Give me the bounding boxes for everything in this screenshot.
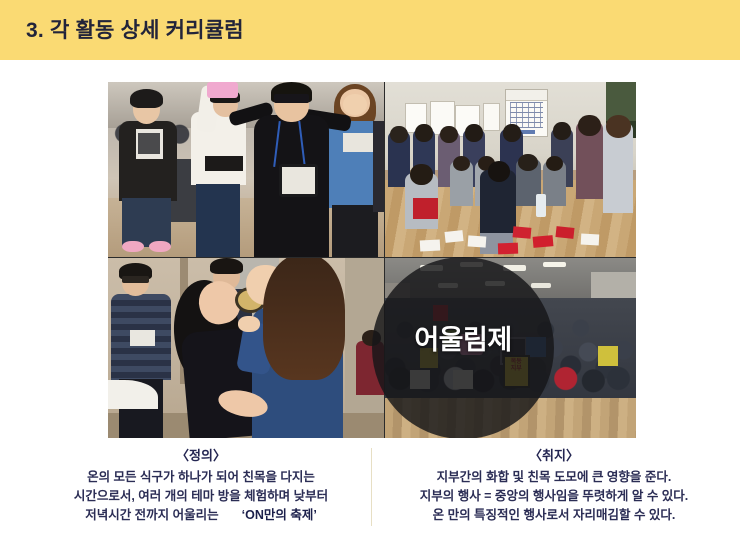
ceiling-light-7 bbox=[531, 283, 551, 288]
man-name-tag bbox=[130, 330, 155, 346]
student-back-1-head bbox=[390, 126, 408, 144]
edge-figure bbox=[373, 121, 384, 212]
floor-card-red-3 bbox=[555, 226, 574, 238]
calendar-header bbox=[506, 90, 546, 101]
eyeglasses-icon bbox=[274, 94, 310, 103]
collage-photo-top-right bbox=[385, 82, 636, 257]
person-left-shoe-left bbox=[122, 241, 144, 252]
caption-purpose: 〈취지〉 지부간의 화합 및 친목 도모에 큰 영향을 준다. 지부의 행사 =… bbox=[378, 446, 730, 525]
water-bottle bbox=[536, 194, 546, 217]
caption-area: 〈정의〉 온의 모든 식구가 하나가 되어 친목을 다지는 시간으로서, 여러 … bbox=[0, 446, 740, 546]
floor-card-white-4 bbox=[581, 234, 599, 245]
header-banner: 3. 각 활동 상세 커리큘럼 bbox=[0, 0, 740, 60]
caption-purpose-line-3: 온 만의 특징적인 행사로서 자리매김할 수 있다. bbox=[378, 506, 730, 525]
person-right-name-tag bbox=[343, 133, 373, 152]
student-back-2-head bbox=[415, 124, 433, 142]
person-mid-jeans bbox=[196, 184, 240, 258]
caption-definition-line-2: 시간으로서, 여러 개의 테마 방을 체험하며 낮부터 bbox=[34, 487, 368, 506]
student-back-3-head bbox=[440, 126, 458, 144]
collage-overlay-label: 어울림제 bbox=[372, 318, 554, 357]
pink-smartphone bbox=[207, 82, 237, 98]
eyeglasses-icon bbox=[122, 276, 150, 283]
red-box-prop bbox=[413, 198, 438, 219]
caption-purpose-heading: 〈취지〉 bbox=[378, 446, 730, 466]
person-left-shirt-photo bbox=[138, 133, 160, 154]
ceiling-light-4 bbox=[543, 262, 566, 267]
person-left-jeans bbox=[122, 198, 172, 247]
wall-notice-4 bbox=[483, 103, 500, 131]
caption-definition-line-1: 온의 모든 식구가 하나가 되어 친목을 다지는 bbox=[34, 468, 368, 487]
floor-card-white-1 bbox=[445, 230, 464, 242]
floor-card-red-2 bbox=[533, 235, 554, 247]
person-right-legs bbox=[332, 205, 379, 258]
student-front-left-head bbox=[410, 164, 433, 185]
student-right-2-head bbox=[606, 115, 631, 138]
caption-purpose-line-2: 지부의 행사 = 중앙의 행사임을 뚜렷하게 알 수 있다. bbox=[378, 487, 730, 506]
collage-photo-bottom-left bbox=[108, 258, 384, 438]
floor-card-red-1 bbox=[513, 227, 531, 239]
student-back-6-head bbox=[553, 122, 571, 140]
photo-collage: 목동지부 어울림제 bbox=[108, 82, 636, 438]
student-back-5-head bbox=[503, 124, 521, 142]
student-front-center-head bbox=[488, 161, 511, 182]
background-man-hair bbox=[210, 258, 243, 274]
floor-card-white-2 bbox=[467, 235, 485, 247]
lanyard-name-badge bbox=[279, 164, 318, 196]
student-right-1-head bbox=[578, 115, 601, 136]
caption-purpose-line-1: 지부간의 화합 및 친목 도모에 큰 영향을 준다. bbox=[378, 468, 730, 487]
person-mid-hoodie-logo bbox=[205, 156, 244, 172]
girl-right-hand bbox=[238, 316, 260, 332]
person-left-shoe-right bbox=[149, 241, 171, 252]
caption-definition-emphasis: ‘ON만의 축제’ bbox=[242, 508, 317, 522]
person-left-hair bbox=[130, 89, 163, 108]
caption-definition: 〈정의〉 온의 모든 식구가 하나가 되어 친목을 다지는 시간으로서, 여러 … bbox=[34, 446, 368, 525]
caption-definition-line-3: 저녁시간 전까지 어울리는 ‘ON만의 축제’ bbox=[34, 506, 368, 525]
caption-definition-heading: 〈정의〉 bbox=[34, 446, 368, 466]
floor-card-white-3 bbox=[420, 239, 441, 251]
student-back-4-head bbox=[465, 124, 483, 142]
collage-photo-top-left bbox=[108, 82, 384, 257]
page-title: 3. 각 활동 상세 커리큘럼 bbox=[26, 14, 244, 44]
girl-right-hair bbox=[263, 258, 346, 380]
caption-definition-line-3-text: 저녁시간 전까지 어울리는 bbox=[85, 508, 218, 522]
floor-card-red-4 bbox=[498, 243, 518, 254]
